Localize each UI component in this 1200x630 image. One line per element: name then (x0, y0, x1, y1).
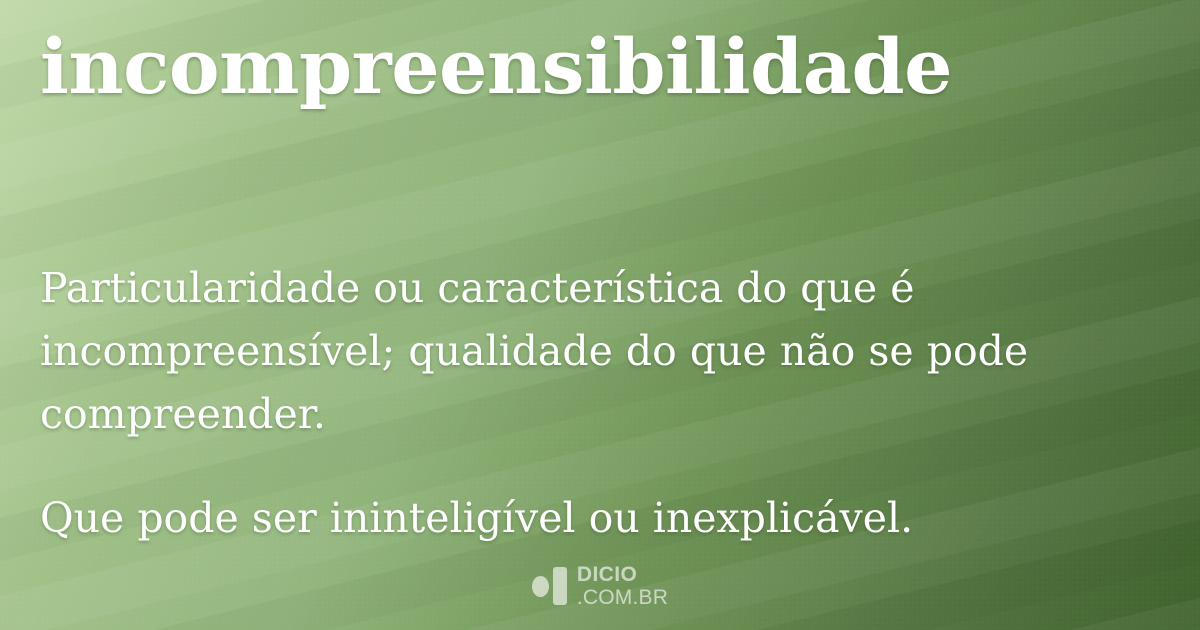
definition-item: Particularidade ou característica do que… (40, 257, 1160, 446)
site-logo: DICIO .COM.BR (0, 564, 1200, 608)
logo-mark (532, 567, 567, 605)
logo-wordmark: DICIO .COM.BR (577, 564, 668, 608)
logo-tld: .COM.BR (577, 587, 668, 608)
definition-list: Particularidade ou característica do que… (40, 216, 1160, 591)
card-content: incompreensibilidade Particularidade ou … (0, 0, 1200, 630)
definition-card: incompreensibilidade Particularidade ou … (0, 0, 1200, 630)
page-title: incompreensibilidade (40, 22, 952, 112)
definition-item: Que pode ser ininteligível ou inexplicáv… (40, 487, 1160, 550)
logo-name: DICIO (577, 564, 668, 585)
logo-dot-icon (532, 576, 549, 597)
logo-bar-icon (553, 567, 567, 605)
